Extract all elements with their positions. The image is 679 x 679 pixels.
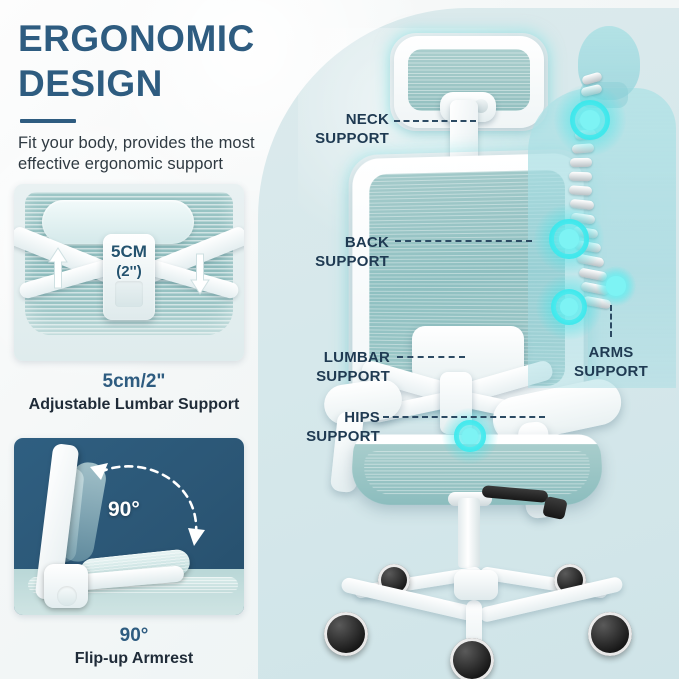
callout-back-support: BACK SUPPORT [253,233,389,271]
lumbar-caption-main: 5cm/2" [14,370,254,394]
page-subtitle: Fit your body, provides the most effecti… [18,133,256,175]
callout-arms-line-1: ARMS [556,343,666,362]
callout-lumbar-support: LUMBAR SUPPORT [250,348,390,386]
callout-back-line-1: BACK [253,233,389,252]
callout-neck-support: NECK SUPPORT [293,110,389,148]
leader-line-arms [610,305,612,337]
marker-core [580,110,600,130]
tilt-tension-knob [542,496,568,520]
marker-core [559,229,579,249]
caster-tire [450,638,494,679]
callout-back-line-2: SUPPORT [253,252,389,271]
chair-caster [450,638,494,679]
support-marker-lumbar [536,274,602,340]
arrow-down-icon [190,252,210,296]
page-title-line-2: DESIGN [18,61,258,106]
rotation-arc-arrow-icon [72,456,222,566]
callout-hips-line-2: SUPPORT [244,427,380,446]
callout-hips-support: HIPS SUPPORT [244,408,380,446]
callout-arms-support: ARMS SUPPORT [556,343,666,381]
armrest-caption-sub: Flip-up Armrest [14,648,254,669]
leader-line-lumbar [397,356,465,358]
lumbar-support-illustration: 5CM (2'') [14,184,244,361]
support-marker-arms [596,266,636,306]
caster-tire [324,612,368,656]
callout-hips-line-1: HIPS [244,408,380,427]
feature-card-adjustable-lumbar-support: 5CM (2'') 5cm/2" Adjustable Lumbar Suppo… [14,184,254,415]
callout-neck-line-2: SUPPORT [293,129,389,148]
base-hub [454,570,498,600]
leader-line-neck [394,120,476,122]
infographic-page: ERGONOMIC DESIGN Fit your body, provides… [0,0,679,679]
caster-tire [588,612,632,656]
lumbar-overlay-unit: (2'') [89,262,169,281]
feature-card-flip-up-armrest: 90° 90° Flip-up Armrest [14,438,254,669]
marker-core [462,428,478,444]
vertebra [569,185,593,196]
chair-five-star-base [330,556,630,652]
lumbar-measurement-overlay: 5CM (2'') [89,242,169,281]
armrest-caption: 90° Flip-up Armrest [14,624,254,669]
lumbar-caption: 5cm/2" Adjustable Lumbar Support [14,370,254,415]
flip-up-armrest-illustration: 90° [14,438,244,615]
callout-lumbar-line-2: SUPPORT [250,367,390,386]
callout-neck-line-1: NECK [293,110,389,129]
armrest-angle-overlay: 90° [108,498,140,522]
arrow-up-icon [48,246,68,290]
armrest-caption-main: 90° [14,624,254,648]
title-divider [20,119,76,123]
leader-line-back [395,240,532,242]
vertebra [569,172,592,182]
human-posture-silhouette [520,26,679,396]
support-marker-back [534,204,604,274]
lumbar-overlay-value: 5CM [89,242,169,262]
armrest-hinge [44,564,88,608]
chair-caster [588,612,632,656]
page-title-line-1: ERGONOMIC [18,16,258,61]
chair-caster [324,612,368,656]
lumbar-caption-sub: Adjustable Lumbar Support [14,394,254,415]
callout-arms-line-2: SUPPORT [556,362,666,381]
vertebra [570,158,592,167]
marker-core [606,276,625,295]
support-marker-neck [554,84,626,156]
title-block: ERGONOMIC DESIGN Fit your body, provides… [18,16,258,175]
callout-lumbar-line-1: LUMBAR [250,348,390,367]
leader-line-hips [383,416,545,418]
product-showcase-panel: NECK SUPPORT BACK SUPPORT LUMBAR SUPPORT… [258,8,679,679]
left-column: ERGONOMIC DESIGN Fit your body, provides… [0,0,258,679]
